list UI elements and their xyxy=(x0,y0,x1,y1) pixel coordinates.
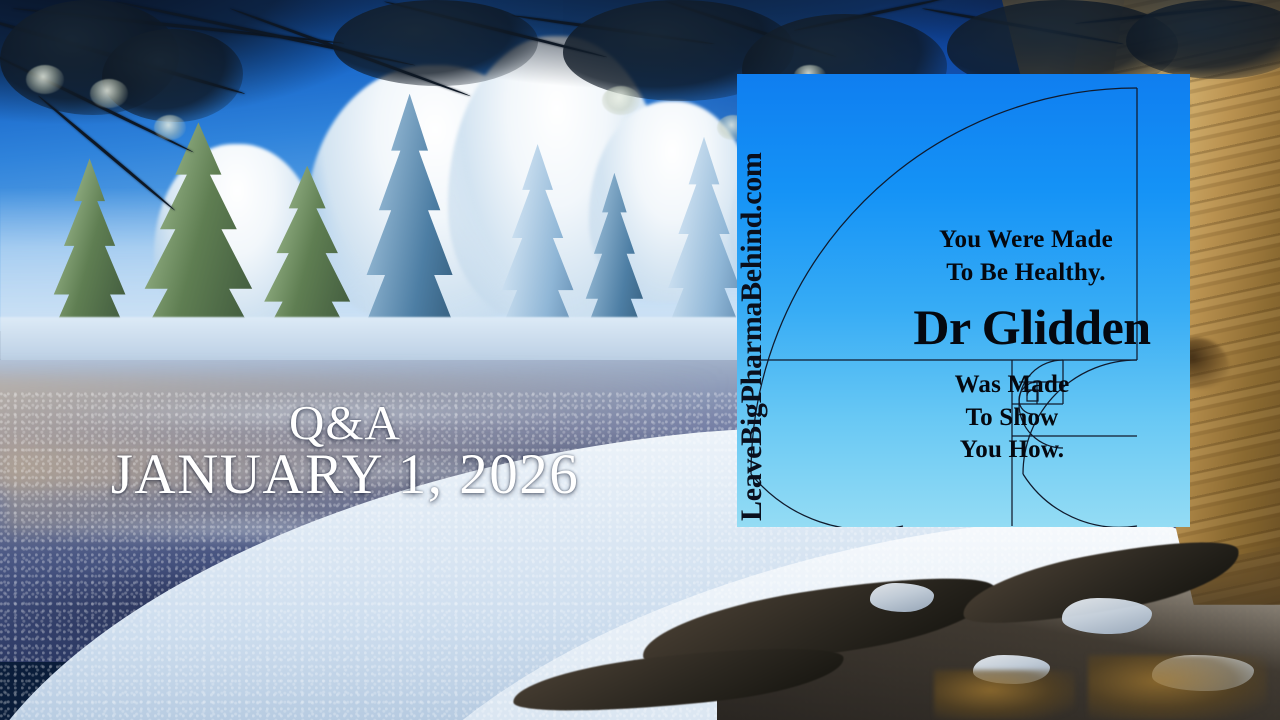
title-line-qa: Q&A xyxy=(0,398,690,448)
logo-tagline-top: You Were Made To Be Healthy. xyxy=(867,224,1185,289)
logo-brand-name: Dr Glidden xyxy=(873,302,1190,352)
logo-tagline-top-line2: To Be Healthy. xyxy=(867,257,1185,290)
dr-glidden-logo-card[interactable]: LeaveBigPharmaBehind.com You Were Made T… xyxy=(737,74,1190,527)
ice-chunk xyxy=(1062,598,1152,634)
title-line-date: JANUARY 1, 2026 xyxy=(0,446,690,504)
logo-tagline-top-line1: You Were Made xyxy=(867,224,1185,257)
logo-website-url[interactable]: LeaveBigPharmaBehind.com xyxy=(737,152,769,521)
rock-moss-patch xyxy=(1088,655,1267,720)
logo-tagline-bottom-line1: Was Made xyxy=(853,369,1171,402)
frost-highlight xyxy=(154,115,186,140)
logo-tagline-bottom-line3: You How. xyxy=(853,434,1171,467)
frost-highlight xyxy=(90,79,128,108)
screenshot-canvas: Q&A JANUARY 1, 2026 xyxy=(0,0,1280,720)
pine-needle-clump xyxy=(333,0,538,86)
rock-moss-patch xyxy=(934,670,1075,720)
logo-tagline-bottom-line2: To Show xyxy=(853,402,1171,435)
pine-needle-clump xyxy=(102,29,243,123)
logo-tagline-bottom: Was Made To Show You How. xyxy=(853,369,1171,467)
frost-highlight xyxy=(26,65,64,94)
frost-highlight xyxy=(602,86,640,115)
episode-title-overlay: Q&A JANUARY 1, 2026 xyxy=(0,398,690,504)
